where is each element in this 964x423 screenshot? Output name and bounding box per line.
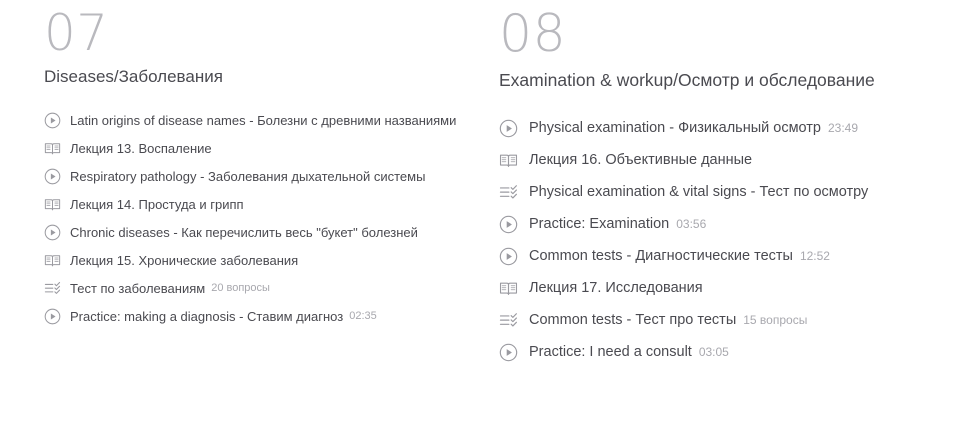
curriculum-item[interactable]: Respiratory pathology - Заболевания дыха…	[44, 162, 495, 190]
curriculum-container: 07 Diseases/Заболевания Latin origins of…	[0, 0, 964, 423]
play-circle-icon	[499, 119, 518, 138]
play-circle-icon	[44, 112, 61, 129]
play-circle-icon	[44, 308, 61, 325]
curriculum-item-label: Practice: making a diagnosis - Ставим ди…	[70, 309, 343, 324]
curriculum-item[interactable]: Chronic diseases - Как перечислить весь …	[44, 218, 495, 246]
open-book-icon	[44, 140, 61, 157]
curriculum-item[interactable]: Тест по заболеваниям20 вопросы	[44, 274, 495, 302]
curriculum-item-label: Лекция 17. Исследования	[529, 280, 703, 296]
curriculum-item-label: Лекция 16. Объективные данные	[529, 152, 752, 168]
curriculum-item-label: Practice: I need a consult	[529, 344, 692, 360]
open-book-icon	[44, 252, 61, 269]
curriculum-item-meta: 23:49	[828, 121, 858, 135]
play-circle-icon	[499, 247, 518, 266]
curriculum-item-meta: 15 вопросы	[743, 313, 807, 327]
curriculum-item-label: Latin origins of disease names - Болезни…	[70, 113, 456, 128]
section-title: Diseases/Заболевания	[44, 67, 495, 87]
curriculum-item-meta: 12:52	[800, 249, 830, 263]
curriculum-item[interactable]: Practice: Examination03:56	[499, 208, 964, 240]
quiz-checklist-icon	[499, 183, 518, 202]
curriculum-item[interactable]: Лекция 14. Простуда и грипп	[44, 190, 495, 218]
curriculum-item-meta: 03:56	[676, 217, 706, 231]
curriculum-item[interactable]: Physical examination - Физикальный осмот…	[499, 112, 964, 144]
curriculum-item[interactable]: Common tests - Тест про тесты15 вопросы	[499, 304, 964, 336]
curriculum-item[interactable]: Latin origins of disease names - Болезни…	[44, 106, 495, 134]
curriculum-item[interactable]: Лекция 13. Воспаление	[44, 134, 495, 162]
curriculum-item-label: Лекция 15. Хронические заболевания	[70, 253, 298, 268]
curriculum-item-label: Physical examination & vital signs - Тес…	[529, 184, 868, 200]
section-title: Examination & workup/Осмотр и обследован…	[499, 70, 964, 91]
section-number: 07	[44, 8, 495, 58]
curriculum-item-label: Chronic diseases - Как перечислить весь …	[70, 225, 418, 240]
curriculum-item[interactable]: Лекция 17. Исследования	[499, 272, 964, 304]
curriculum-section-08: 08 Examination & workup/Осмотр и обследо…	[495, 0, 964, 423]
play-circle-icon	[44, 224, 61, 241]
quiz-checklist-icon	[44, 280, 61, 297]
play-circle-icon	[499, 215, 518, 234]
section-number: 08	[499, 8, 964, 60]
open-book-icon	[44, 196, 61, 213]
curriculum-item[interactable]: Physical examination & vital signs - Тес…	[499, 176, 964, 208]
play-circle-icon	[44, 168, 61, 185]
curriculum-item[interactable]: Practice: making a diagnosis - Ставим ди…	[44, 302, 495, 330]
curriculum-item-label: Лекция 14. Простуда и грипп	[70, 197, 244, 212]
curriculum-item-label: Лекция 13. Воспаление	[70, 141, 212, 156]
curriculum-item[interactable]: Common tests - Диагностические тесты12:5…	[499, 240, 964, 272]
curriculum-item-label: Тест по заболеваниям	[70, 281, 205, 296]
play-circle-icon	[499, 343, 518, 362]
curriculum-item[interactable]: Лекция 15. Хронические заболевания	[44, 246, 495, 274]
curriculum-item[interactable]: Лекция 16. Объективные данные	[499, 144, 964, 176]
open-book-icon	[499, 279, 518, 298]
section-item-list: Physical examination - Физикальный осмот…	[499, 112, 964, 368]
curriculum-item-label: Practice: Examination	[529, 216, 669, 232]
curriculum-item-label: Respiratory pathology - Заболевания дыха…	[70, 169, 425, 184]
curriculum-item-meta: 02:35	[349, 310, 377, 322]
quiz-checklist-icon	[499, 311, 518, 330]
curriculum-item-meta: 03:05	[699, 345, 729, 359]
curriculum-item-label: Common tests - Диагностические тесты	[529, 248, 793, 264]
section-item-list: Latin origins of disease names - Болезни…	[44, 106, 495, 330]
curriculum-item-meta: 20 вопросы	[211, 282, 270, 294]
curriculum-item-label: Common tests - Тест про тесты	[529, 312, 736, 328]
curriculum-item[interactable]: Practice: I need a consult03:05	[499, 336, 964, 368]
curriculum-section-07: 07 Diseases/Заболевания Latin origins of…	[0, 0, 495, 423]
open-book-icon	[499, 151, 518, 170]
curriculum-item-label: Physical examination - Физикальный осмот…	[529, 120, 821, 136]
